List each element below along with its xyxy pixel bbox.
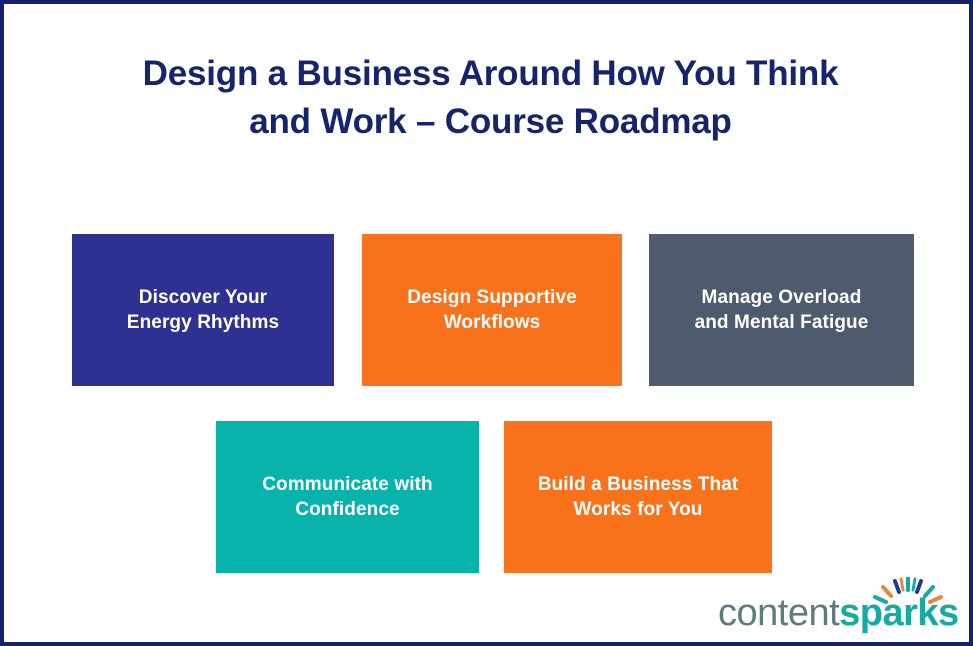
module-card-design-supportive-workflows[interactable]: Design Supportive Workflows	[362, 234, 622, 386]
module-card-discover-your-energy-rhythms[interactable]: Discover Your Energy Rhythms	[72, 234, 334, 386]
module-card-manage-overload-and-mental-fatigue[interactable]: Manage Overload and Mental Fatigue	[649, 234, 914, 386]
module-card-label: Build a Business That Works for You	[538, 472, 739, 522]
title-line-1: Design a Business Around How You Think	[4, 50, 973, 98]
slide-canvas: Design a Business Around How You Think a…	[0, 0, 973, 646]
module-card-label: Discover Your Energy Rhythms	[127, 285, 279, 335]
module-card-build-a-business-that-works-for-you[interactable]: Build a Business That Works for You	[504, 421, 772, 573]
contentsparks-logo[interactable]: contentsparks	[718, 577, 966, 633]
module-card-label: Design Supportive Workflows	[407, 285, 577, 335]
title-line-2: and Work – Course Roadmap	[4, 98, 973, 146]
page-title: Design a Business Around How You Think a…	[4, 50, 973, 146]
logo-word-sparks: sparks	[839, 592, 959, 634]
logo-wordmark: contentsparks	[718, 593, 966, 633]
logo-word-content: content	[718, 592, 839, 634]
module-card-label: Manage Overload and Mental Fatigue	[695, 285, 869, 335]
module-card-label: Communicate with Confidence	[262, 472, 433, 522]
module-card-communicate-with-confidence[interactable]: Communicate with Confidence	[216, 421, 479, 573]
